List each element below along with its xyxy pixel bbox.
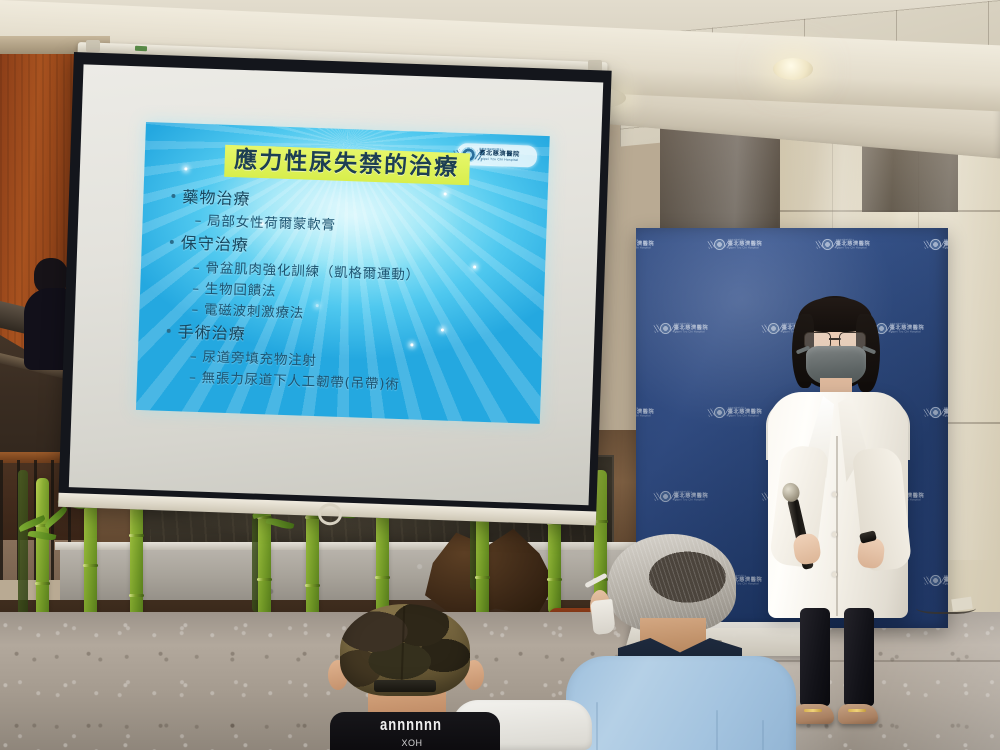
shoe (838, 704, 878, 724)
trousers (796, 608, 880, 706)
presentation-slide: 佛教慈濟醫療財團法人 臺北慈濟醫院 Taipei Tzu Chi Hospita… (136, 122, 550, 424)
cap-strap (374, 680, 436, 692)
dash-icon: – (194, 213, 202, 229)
audience-member-elder (566, 534, 796, 750)
coat-placket (836, 436, 838, 616)
slide-bullet-list: 藥物治療 –局部女性荷爾蒙軟膏 保守治療 –骨盆肌肉強化訓練（凱格爾運動） –生… (163, 185, 534, 401)
dash-icon: – (192, 281, 200, 297)
eyeglasses-icon (804, 332, 866, 347)
bullet-dot-icon (170, 240, 174, 244)
bullet-dot-icon (167, 329, 171, 333)
dash-icon: – (191, 302, 199, 318)
dash-icon: – (190, 348, 198, 364)
screen-housing-clip (135, 46, 147, 51)
bullet-dot-icon (171, 193, 175, 197)
ceiling-downlight-icon (773, 58, 813, 80)
dash-icon: – (193, 259, 201, 275)
mask-strap (584, 573, 608, 589)
audience-member-cap: annnnnn XOH (322, 604, 522, 750)
photo-scene: 佛教慈濟醫療財團法人 臺北慈濟醫院 Taipei Tzu Chi Hospita… (0, 0, 1000, 750)
shirt-text: annnnnn (380, 716, 442, 732)
face-mask (590, 599, 615, 635)
screen-bracket (86, 40, 100, 52)
dash-icon: – (189, 369, 197, 385)
shirt-subtext: XOH (362, 738, 462, 748)
shoe (794, 704, 834, 724)
shirt-graphic: annnnnn (346, 716, 476, 732)
